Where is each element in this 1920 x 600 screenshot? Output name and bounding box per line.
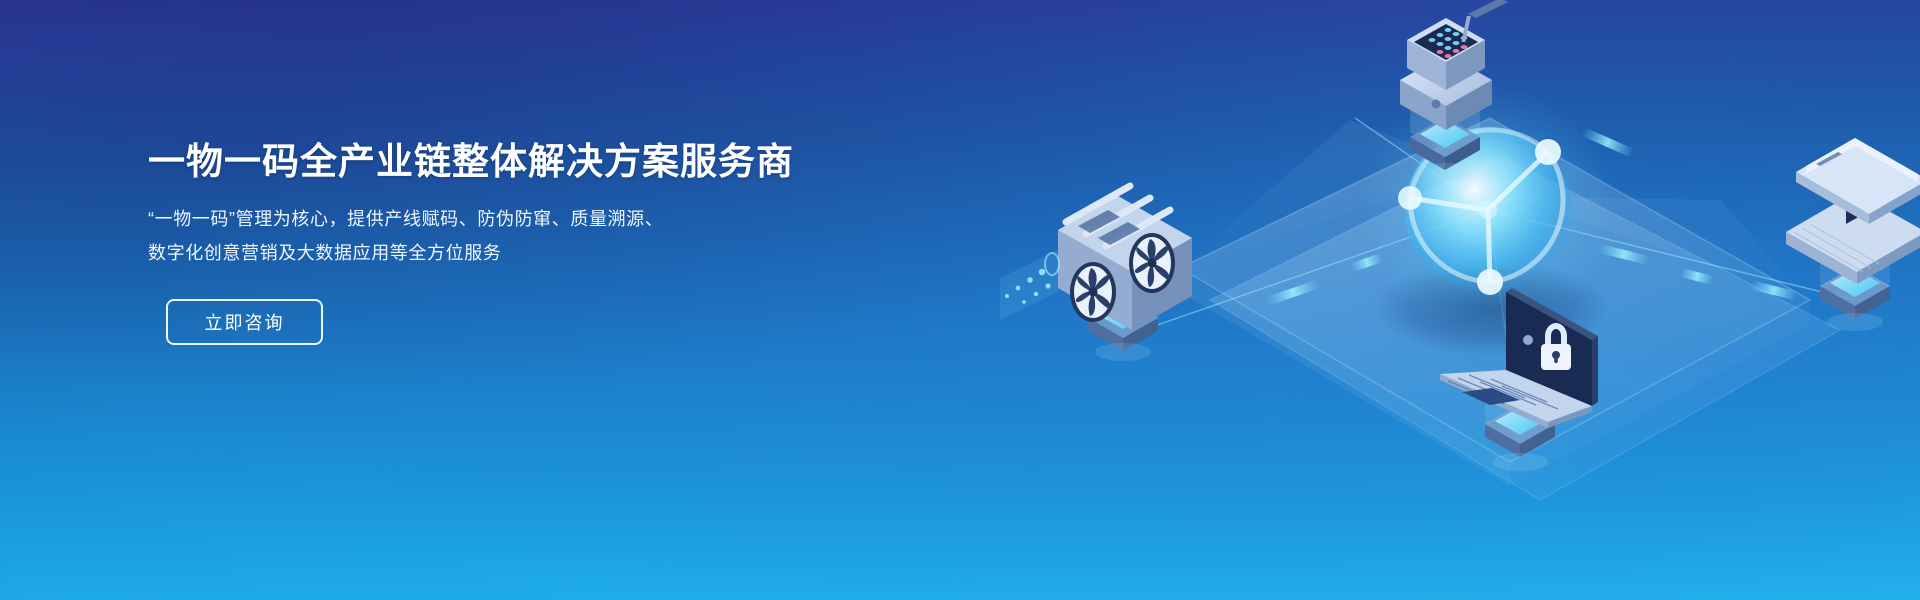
hero-copy: 一物一码全产业链整体解决方案服务商 “一物一码”管理为核心，提供产线赋码、防伪防…: [148, 140, 868, 345]
page-title: 一物一码全产业链整体解决方案服务商: [148, 140, 868, 184]
airflow-particles: [1000, 250, 1059, 320]
hero-subtitle-line-1: “一物一码”管理为核心，提供产线赋码、防伪防窜、质量溯源、: [148, 202, 868, 236]
hero-banner: 一物一码全产业链整体解决方案服务商 “一物一码”管理为核心，提供产线赋码、防伪防…: [0, 0, 1920, 600]
hero-subtitle: “一物一码”管理为核心，提供产线赋码、防伪防窜、质量溯源、 数字化创意营销及大数…: [148, 202, 868, 270]
network-globe-icon: [1360, 82, 1616, 338]
hero-illustration: [880, 0, 1920, 600]
hero-subtitle-line-2: 数字化创意营销及大数据应用等全方位服务: [148, 236, 868, 270]
consult-now-button[interactable]: 立即咨询: [166, 299, 323, 345]
server-fans-icon: [1058, 186, 1192, 330]
fan-icon: [1129, 233, 1175, 293]
server-rack-node: [1000, 186, 1192, 351]
illustration-svg: [880, 0, 1920, 600]
fan-icon: [1070, 262, 1116, 322]
